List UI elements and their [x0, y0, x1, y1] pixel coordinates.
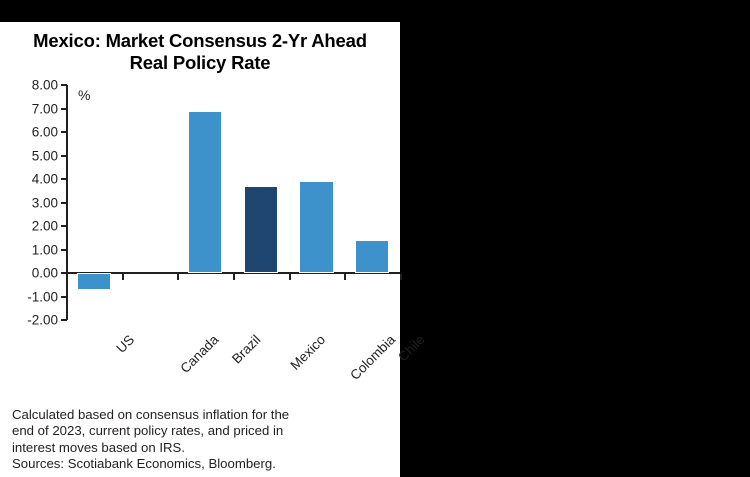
- x-axis-tick: [400, 274, 402, 280]
- x-axis-tick: [122, 274, 124, 280]
- bar-chile: [355, 240, 390, 273]
- chart-title-line-1: Mexico: Market Consensus 2-Yr Ahead: [8, 30, 392, 52]
- y-axis-tick-label: 0.00: [32, 266, 58, 281]
- x-axis-label-brazil: Brazil: [229, 332, 263, 366]
- x-axis-tick: [289, 274, 291, 280]
- footnote-line: interest moves based on IRS.: [12, 440, 392, 456]
- footnote-line: Sources: Scotiabank Economics, Bloomberg…: [12, 456, 392, 472]
- y-axis-tick: [61, 296, 67, 298]
- x-axis-label-chile: Chile: [395, 332, 427, 364]
- bar-colombia: [299, 181, 334, 273]
- y-axis-tick-label: 3.00: [32, 195, 58, 210]
- x-axis-label-canada: Canada: [177, 332, 221, 376]
- y-axis-tick-label: 1.00: [32, 242, 58, 257]
- y-axis-tick-label: 4.00: [32, 172, 58, 187]
- screenshot-root: Mexico: Market Consensus 2-Yr Ahead Real…: [0, 0, 750, 477]
- bar-brazil: [188, 111, 223, 273]
- y-axis-tick-label: 6.00: [32, 125, 58, 140]
- y-axis-tick: [61, 249, 67, 251]
- x-axis-label-mexico: Mexico: [287, 332, 328, 373]
- chart-title: Mexico: Market Consensus 2-Yr Ahead Real…: [8, 30, 392, 74]
- footnote-line: end of 2023, current policy rates, and p…: [12, 423, 392, 439]
- y-axis-tick: [61, 108, 67, 110]
- y-axis-tick-label: -1.00: [27, 289, 58, 304]
- x-axis-tick: [344, 274, 346, 280]
- y-axis-tick-label: 8.00: [32, 78, 58, 93]
- y-axis-tick-label: 5.00: [32, 148, 58, 163]
- x-axis-tick: [233, 274, 235, 280]
- y-axis-tick-label: 2.00: [32, 219, 58, 234]
- y-axis-tick: [61, 225, 67, 227]
- bar-mexico: [244, 186, 279, 273]
- bar-us: [77, 273, 112, 290]
- chart-panel: Mexico: Market Consensus 2-Yr Ahead Real…: [0, 22, 400, 477]
- y-axis-tick: [61, 202, 67, 204]
- y-axis-tick: [61, 178, 67, 180]
- plot-area: % 8.007.006.005.004.003.002.001.000.00-1…: [66, 85, 400, 320]
- y-axis-tick: [61, 319, 67, 321]
- y-axis-tick-label: 7.00: [32, 101, 58, 116]
- x-axis-tick: [177, 274, 179, 280]
- y-axis-tick-label: -2.00: [27, 313, 58, 328]
- y-axis-tick: [61, 84, 67, 86]
- x-axis-label-us: US: [113, 332, 137, 356]
- x-axis-label-colombia: Colombia: [347, 332, 398, 383]
- y-axis-tick: [61, 131, 67, 133]
- y-axis-unit-label: %: [78, 87, 90, 103]
- y-axis-tick: [61, 155, 67, 157]
- footnote-line: Calculated based on consensus inflation …: [12, 407, 392, 423]
- x-axis-tick: [66, 274, 68, 280]
- chart-title-line-2: Real Policy Rate: [8, 52, 392, 74]
- chart-footnote: Calculated based on consensus inflation …: [12, 407, 392, 473]
